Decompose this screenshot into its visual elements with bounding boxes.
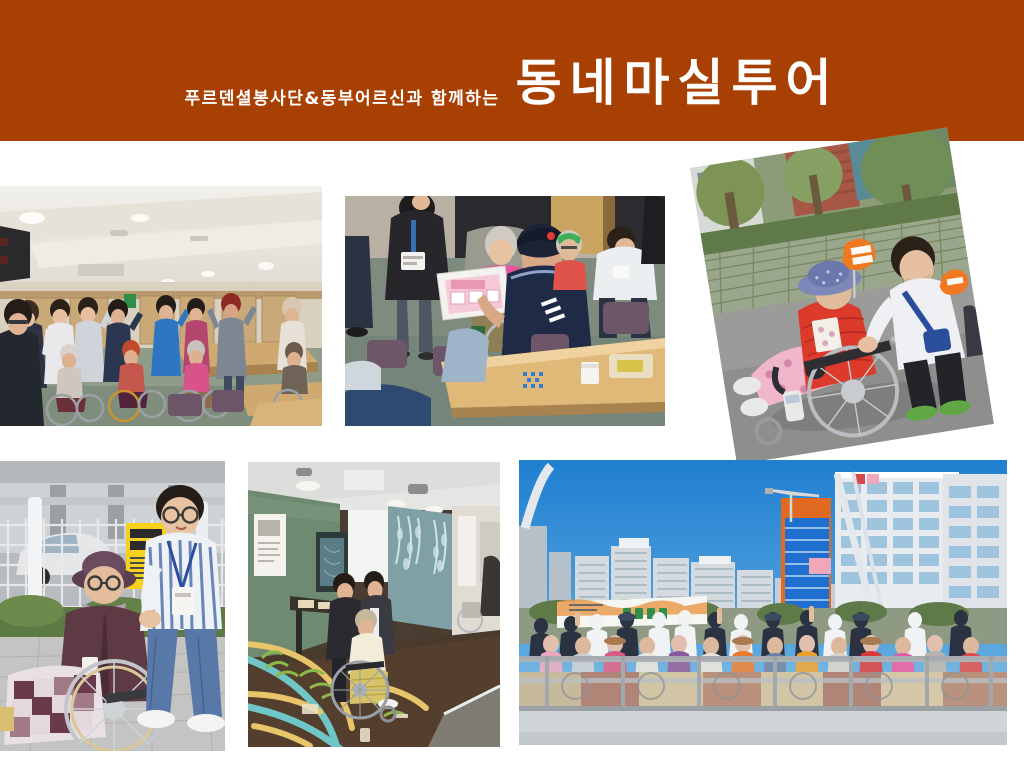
photo-leaflet	[345, 196, 665, 426]
photo-outdoor-image	[690, 128, 994, 465]
photo-museum	[248, 462, 500, 747]
header-content: 푸르덴셜봉사단&동부어르신과 함께하는 동네마실투어	[0, 0, 1024, 141]
page-title: 동네마실투어	[516, 43, 840, 115]
photo-hall-image	[0, 186, 322, 426]
poster-page: 푸르덴셜봉사단&동부어르신과 함께하는 동네마실투어	[0, 0, 1024, 768]
photo-bridge	[519, 460, 1007, 745]
photo-hall	[0, 186, 322, 426]
photo-bridge-image	[519, 460, 1007, 745]
photo-museum-image	[248, 462, 500, 747]
header-band: 푸르덴셜봉사단&동부어르신과 함께하는 동네마실투어	[0, 0, 1024, 141]
photo-outdoor	[690, 128, 994, 465]
photo-leaflet-image	[345, 196, 665, 426]
photo-gate	[0, 461, 225, 751]
photo-gate-image	[0, 461, 225, 751]
header-subtitle: 푸르덴셜봉사단&동부어르신과 함께하는	[184, 84, 499, 109]
